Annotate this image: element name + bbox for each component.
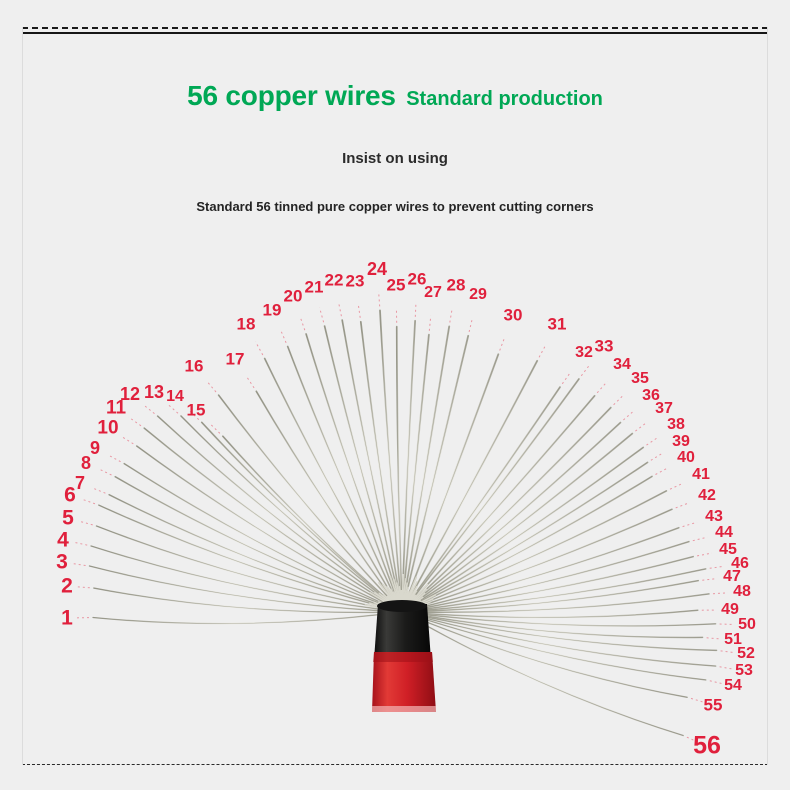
wire-strand-core-4 xyxy=(91,546,402,612)
leader-mark-40 xyxy=(656,467,669,474)
wire-strand-28 xyxy=(402,326,449,612)
wire-strand-17 xyxy=(256,391,402,612)
wire-strand-4 xyxy=(91,546,402,612)
wire-strand-core-37 xyxy=(402,434,632,612)
strand-label-14: 14 xyxy=(166,389,184,405)
page-title-secondary: Standard production xyxy=(406,88,603,110)
leader-mark-20 xyxy=(300,316,305,330)
tagline: Insist on using xyxy=(0,150,790,167)
leader-mark-52 xyxy=(721,651,736,653)
wire-bundle-neck-strand xyxy=(402,582,417,613)
strand-label-35: 35 xyxy=(631,371,649,387)
wire-strand-11 xyxy=(144,428,402,612)
wire-bundle-neck-strand xyxy=(378,602,402,612)
wire-strand-core-46 xyxy=(402,569,706,612)
wire-bundle-neck-strand xyxy=(394,579,402,612)
wire-strand-29 xyxy=(402,336,468,612)
wire-bundle-neck-strand xyxy=(378,582,402,612)
leader-mark-42 xyxy=(676,503,690,508)
strand-label-1: 1 xyxy=(61,608,73,629)
wire-strand-core-39 xyxy=(402,462,648,612)
wire-strand-core-32 xyxy=(402,387,560,612)
strand-label-19: 19 xyxy=(263,302,282,319)
wire-bundle-neck-strand xyxy=(402,595,416,612)
wire-strand-core-44 xyxy=(402,542,689,612)
cable-braid-top xyxy=(377,600,427,612)
wire-bundle-neck-strand xyxy=(402,574,403,612)
wire-strand-core-28 xyxy=(402,326,449,612)
leader-mark-19 xyxy=(280,329,286,343)
strand-label-7: 7 xyxy=(75,474,85,492)
wire-strand-43 xyxy=(402,528,679,612)
strand-label-10: 10 xyxy=(97,419,118,438)
wire-strand-core-48 xyxy=(402,594,709,612)
wire-bundle-neck-strand xyxy=(382,602,402,612)
strand-label-37: 37 xyxy=(655,401,673,417)
wire-bundle-neck-strand xyxy=(402,597,423,612)
wire-strand-46 xyxy=(402,569,706,612)
wire-strand-45 xyxy=(402,557,693,612)
leader-mark-36 xyxy=(623,410,634,420)
wire-strand-33 xyxy=(402,379,579,612)
leader-mark-37 xyxy=(635,422,647,431)
wire-strand-53 xyxy=(402,612,716,666)
wire-strand-20 xyxy=(306,334,402,612)
leader-mark-45 xyxy=(697,553,712,556)
wire-strand-core-45 xyxy=(402,557,693,612)
leader-mark-32 xyxy=(562,372,571,384)
wire-strand-30 xyxy=(402,354,498,612)
wire-strand-52 xyxy=(402,612,717,650)
leader-mark-33 xyxy=(581,364,590,376)
wire-strand-core-9 xyxy=(124,464,402,612)
strand-label-17: 17 xyxy=(226,351,245,368)
wire-strand-36 xyxy=(402,423,620,612)
strand-label-5: 5 xyxy=(62,508,74,529)
wire-strand-core-51 xyxy=(402,612,703,638)
wire-bundle-neck-strand xyxy=(402,595,436,612)
wire-bundle-neck-strand xyxy=(402,591,417,612)
wire-strand-5 xyxy=(97,526,403,612)
wire-strand-14 xyxy=(202,422,402,612)
callout-leader-marks xyxy=(71,291,736,743)
frame-edge-right xyxy=(767,27,768,765)
wire-strand-core-34 xyxy=(402,396,595,612)
wire-strand-27 xyxy=(402,335,429,612)
wire-strand-54 xyxy=(402,612,706,680)
strand-label-4: 4 xyxy=(57,530,69,551)
leader-mark-41 xyxy=(670,483,684,489)
frame-solid-line-top xyxy=(22,32,768,34)
wire-bundle-neck-strand xyxy=(402,608,424,612)
wire-strand-core-53 xyxy=(402,612,716,666)
leader-mark-39 xyxy=(651,453,664,461)
wire-strand-core-36 xyxy=(402,423,620,612)
wire-bundle-neck-strand xyxy=(402,589,427,612)
wire-bundle-neck-strand xyxy=(387,586,402,612)
strand-label-34: 34 xyxy=(613,357,631,373)
strand-label-9: 9 xyxy=(90,439,100,457)
wire-strand-core-24 xyxy=(380,310,402,612)
wire-strand-core-12 xyxy=(158,416,402,612)
wire-strand-23 xyxy=(361,322,402,612)
wire-strand-41 xyxy=(402,491,666,612)
leader-mark-5 xyxy=(78,521,93,525)
wire-strand-core-50 xyxy=(402,612,716,626)
strand-label-31: 31 xyxy=(548,316,567,333)
wire-strand-55 xyxy=(402,612,687,697)
strand-label-23: 23 xyxy=(346,273,365,290)
wire-strand-25 xyxy=(397,327,402,612)
wire-strand-40 xyxy=(402,476,652,612)
leader-mark-43 xyxy=(683,522,697,526)
leader-mark-15 xyxy=(209,423,220,434)
leader-mark-31 xyxy=(539,344,546,357)
strand-label-29: 29 xyxy=(469,287,487,303)
wire-bundle-neck-strand xyxy=(402,605,427,612)
frame-edge-left xyxy=(22,27,23,765)
wire-strand-34 xyxy=(402,396,595,612)
leader-mark-48 xyxy=(713,593,728,594)
wire-strand-47 xyxy=(402,581,698,612)
wire-strand-core-29 xyxy=(402,336,468,612)
page-title-primary: 56 copper wires xyxy=(187,80,396,111)
wire-bundle-neck-strand xyxy=(399,586,402,612)
leader-mark-12 xyxy=(143,404,155,413)
wire-strand-core-40 xyxy=(402,476,652,612)
wire-strand-core-20 xyxy=(306,334,402,612)
leader-mark-28 xyxy=(450,308,453,323)
wire-strand-13 xyxy=(181,416,402,612)
wire-bundle-neck-strand xyxy=(365,605,402,612)
strand-label-43: 43 xyxy=(705,509,723,525)
leader-mark-47 xyxy=(702,579,717,581)
wire-bundle-neck-strand xyxy=(374,592,402,612)
wire-bundle-neck-strand xyxy=(402,593,425,612)
leader-mark-22 xyxy=(338,302,341,317)
wire-strand-core-43 xyxy=(402,528,679,612)
wire-strand-core-42 xyxy=(402,509,672,612)
cable-sleeve-lip xyxy=(373,652,433,662)
wire-strand-core-41 xyxy=(402,491,666,612)
wire-strand-3 xyxy=(90,566,403,612)
wire-bundle-neck-strand xyxy=(390,589,402,612)
strand-label-25: 25 xyxy=(387,277,406,294)
wire-bundle-neck-strand xyxy=(402,601,421,612)
wire-bundle-neck-strand xyxy=(370,592,403,612)
wire-strand-core-54 xyxy=(402,612,706,680)
wire-strand-core-10 xyxy=(137,446,402,612)
wire-strand-38 xyxy=(402,447,643,612)
strand-label-39: 39 xyxy=(672,434,690,450)
wire-strand-core-5 xyxy=(97,526,403,612)
strand-label-20: 20 xyxy=(284,288,303,305)
leader-mark-38 xyxy=(647,437,659,445)
wire-strand-core-8 xyxy=(115,477,402,612)
cable-sleeve-bottom-highlight xyxy=(372,706,436,712)
wire-strand-24 xyxy=(380,310,402,612)
wire-strand-48 xyxy=(402,594,709,612)
wire-bundle-neck-strand xyxy=(383,594,402,612)
wire-bundle-neck-strand xyxy=(402,584,428,612)
strand-label-28: 28 xyxy=(447,277,466,294)
wire-strand-10 xyxy=(137,446,402,612)
strand-label-48: 48 xyxy=(733,584,751,600)
wire-strand-49 xyxy=(402,610,698,617)
leader-mark-54 xyxy=(710,681,725,684)
strand-label-22: 22 xyxy=(325,272,344,289)
wire-strand-22 xyxy=(342,320,402,612)
wire-strand-42 xyxy=(402,509,672,612)
wire-strand-core-22 xyxy=(342,320,402,612)
strand-label-27: 27 xyxy=(424,285,442,301)
wire-strand-core-27 xyxy=(402,335,429,612)
leader-mark-30 xyxy=(500,337,505,351)
leader-mark-35 xyxy=(614,394,625,405)
wire-bundle-neck-strand xyxy=(394,592,402,612)
wire-strand-core-31 xyxy=(402,361,537,612)
wire-strand-2 xyxy=(94,588,402,612)
wire-strand-7 xyxy=(109,495,402,612)
product-detail-image: 56 copper wires Standard production Insi… xyxy=(0,0,790,790)
wire-strand-core-17 xyxy=(256,391,402,612)
wire-bundle-neck-strand xyxy=(397,583,402,613)
wire-strand-core-7 xyxy=(109,495,402,612)
wire-strand-core-35 xyxy=(402,408,611,612)
wire-strand-35 xyxy=(402,408,611,612)
leader-mark-50 xyxy=(720,624,735,625)
wire-strand-12 xyxy=(158,416,402,612)
strand-label-32: 32 xyxy=(575,345,593,361)
wire-strand-core-16 xyxy=(219,395,402,612)
wire-strand-core-55 xyxy=(402,612,687,697)
strand-label-52: 52 xyxy=(737,646,755,662)
page-title: 56 copper wires Standard production xyxy=(0,80,790,112)
frame-dashed-line-bottom xyxy=(22,764,768,765)
strand-label-18: 18 xyxy=(237,316,256,333)
leader-mark-11 xyxy=(129,417,141,426)
strand-label-54: 54 xyxy=(724,678,742,694)
cable-braid-shield xyxy=(374,604,431,660)
strand-label-3: 3 xyxy=(56,552,68,573)
strand-label-24: 24 xyxy=(367,260,387,278)
cable-body xyxy=(372,600,436,712)
wire-strand-1 xyxy=(93,612,402,624)
wire-bundle-neck-strand xyxy=(402,577,416,612)
strand-label-12: 12 xyxy=(120,385,140,403)
wire-strand-19 xyxy=(288,347,402,613)
leader-mark-4 xyxy=(73,542,88,545)
strand-label-16: 16 xyxy=(185,358,204,375)
wire-strand-37 xyxy=(402,434,632,612)
wire-bundle-neck-strand xyxy=(402,583,407,613)
description-text: Standard 56 tinned pure copper wires to … xyxy=(0,199,790,214)
leader-mark-7 xyxy=(92,488,106,494)
wire-strand-26 xyxy=(402,321,415,612)
leader-mark-18 xyxy=(256,342,263,355)
leader-mark-10 xyxy=(121,436,134,444)
wire-strand-18 xyxy=(265,359,402,613)
leader-mark-23 xyxy=(358,303,360,318)
wire-strand-9 xyxy=(124,464,402,612)
strand-label-15: 15 xyxy=(187,402,206,419)
strand-label-56: 56 xyxy=(693,734,721,759)
wire-strand-50 xyxy=(402,612,716,626)
wire-bundle-neck-strand xyxy=(402,586,417,612)
wire-strand-21 xyxy=(325,326,402,612)
leader-mark-51 xyxy=(707,638,722,639)
strand-label-44: 44 xyxy=(715,525,733,541)
leader-mark-24 xyxy=(379,291,380,306)
wire-strand-core-14 xyxy=(202,422,402,612)
strand-label-55: 55 xyxy=(704,697,723,714)
leader-mark-17 xyxy=(246,375,254,388)
leader-mark-8 xyxy=(98,469,112,475)
wire-bundle-neck-strand xyxy=(387,596,402,612)
cable-red-sleeve xyxy=(372,652,436,712)
wire-strand-core-38 xyxy=(402,447,643,612)
wire-strand-core-21 xyxy=(325,326,402,612)
wire-strand-core-13 xyxy=(181,416,402,612)
strand-label-42: 42 xyxy=(698,488,716,504)
strand-label-41: 41 xyxy=(692,467,710,483)
wire-strand-15 xyxy=(223,436,402,612)
wire-strand-core-11 xyxy=(144,428,402,612)
wire-strand-core-25 xyxy=(397,327,402,612)
leader-mark-3 xyxy=(71,563,86,565)
leader-mark-29 xyxy=(469,317,473,332)
wire-strand-56 xyxy=(402,612,683,736)
leader-mark-9 xyxy=(107,455,120,462)
strand-label-13: 13 xyxy=(144,383,164,401)
wire-strand-core-15 xyxy=(223,436,402,612)
wire-bundle-neck-strand xyxy=(402,591,409,612)
leader-mark-27 xyxy=(429,316,431,331)
strand-label-38: 38 xyxy=(667,417,685,433)
wire-strand-core-49 xyxy=(402,610,698,617)
wire-strand-core-30 xyxy=(402,354,498,612)
wire-strand-44 xyxy=(402,542,689,612)
wire-bundle-neck-strand xyxy=(369,603,402,612)
wire-strand-core-18 xyxy=(265,359,402,613)
leader-mark-6 xyxy=(81,499,95,504)
wire-bundle-neck-strand xyxy=(402,599,433,612)
wire-strand-31 xyxy=(402,361,537,612)
wire-strand-core-19 xyxy=(288,347,402,613)
leader-mark-21 xyxy=(320,308,324,323)
leader-mark-26 xyxy=(415,302,416,317)
wire-strand-16 xyxy=(219,395,402,612)
wire-strand-core-56 xyxy=(402,612,683,736)
wire-bundle-neck-strand xyxy=(402,578,406,612)
leader-mark-2 xyxy=(75,587,90,588)
wire-strand-39 xyxy=(402,462,648,612)
wire-strand-6 xyxy=(99,505,402,612)
strand-label-30: 30 xyxy=(504,307,523,324)
leader-mark-44 xyxy=(693,537,708,541)
wire-strand-core-6 xyxy=(99,505,402,612)
wire-strand-core-33 xyxy=(402,379,579,612)
wire-strand-core-26 xyxy=(402,321,415,612)
wire-bundle-neck-strand xyxy=(379,593,402,612)
wire-strand-32 xyxy=(402,387,560,612)
wire-strand-core-3 xyxy=(90,566,403,612)
wire-bundle-neck-strand xyxy=(401,590,402,612)
wire-fan-illustration xyxy=(0,0,790,790)
strand-label-49: 49 xyxy=(721,602,739,618)
wire-strand-8 xyxy=(115,477,402,612)
strand-label-33: 33 xyxy=(595,338,614,355)
wire-bundle-neck-strand xyxy=(402,587,408,612)
wire-strand-core-47 xyxy=(402,581,698,612)
leader-mark-53 xyxy=(720,667,735,670)
wire-strand-core-23 xyxy=(361,322,402,612)
wire-bundle-neck-strand xyxy=(390,576,402,612)
strand-label-2: 2 xyxy=(61,576,73,597)
leader-mark-16 xyxy=(206,381,216,392)
wire-strand-core-1 xyxy=(93,612,402,624)
strand-label-21: 21 xyxy=(305,279,324,296)
wire-strand-51 xyxy=(402,612,703,638)
strand-label-40: 40 xyxy=(677,450,695,466)
frame-dashed-line-top xyxy=(22,27,768,29)
wire-strand-core-52 xyxy=(402,612,717,650)
wire-strand-core-2 xyxy=(94,588,402,612)
leader-mark-34 xyxy=(597,382,607,393)
wire-bundle-neck-strand xyxy=(383,584,402,612)
wire-bundle-neck-strand xyxy=(374,602,402,612)
wire-bundle-neck-strand xyxy=(402,602,430,612)
